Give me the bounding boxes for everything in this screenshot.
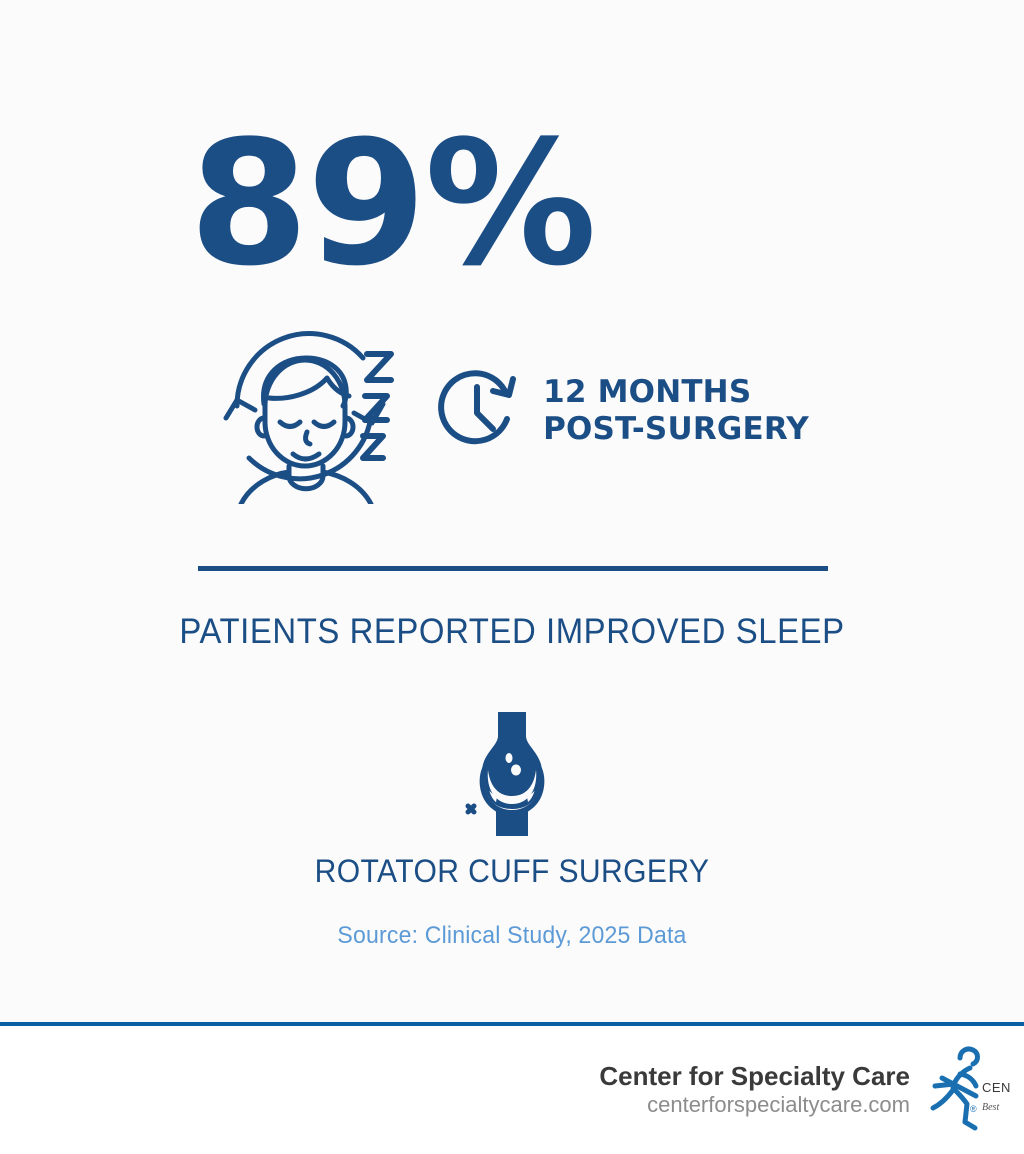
source-citation: Source: Clinical Study, 2025 Data [20, 922, 1003, 950]
headline-text: PATIENTS REPORTED IMPROVED SLEEP [31, 612, 994, 652]
footer-bar: Center for Specialty Care centerforspeci… [0, 1026, 1024, 1154]
joint-icon-block [0, 708, 1024, 845]
stat-percentage: 89% [189, 118, 595, 290]
logo-wordmark: CEN [982, 1080, 1011, 1095]
icon-timeframe-row: 12 MONTHS POST-SURGERY [0, 318, 1024, 504]
timeframe-label: 12 MONTHS POST-SURGERY [543, 374, 809, 447]
logo-tagline: Best [982, 1102, 999, 1113]
footer-text-block: Center for Specialty Care centerforspeci… [599, 1061, 920, 1118]
brand-logo: ® CEN Best [920, 1044, 1024, 1136]
brand-url[interactable]: centerforspecialtycare.com [599, 1092, 910, 1118]
stat-block: 89% [0, 118, 1024, 290]
registered-mark: ® [970, 1104, 977, 1114]
shoulder-joint-icon [452, 708, 572, 840]
brand-name: Center for Specialty Care [599, 1061, 910, 1092]
clock-arrow-icon [433, 365, 529, 457]
infographic-canvas: 89% [0, 0, 1024, 1154]
sleeping-face-zzz-icon [215, 318, 419, 504]
procedure-label: ROTATOR CUFF SURGERY [31, 853, 994, 890]
section-divider [198, 566, 828, 571]
